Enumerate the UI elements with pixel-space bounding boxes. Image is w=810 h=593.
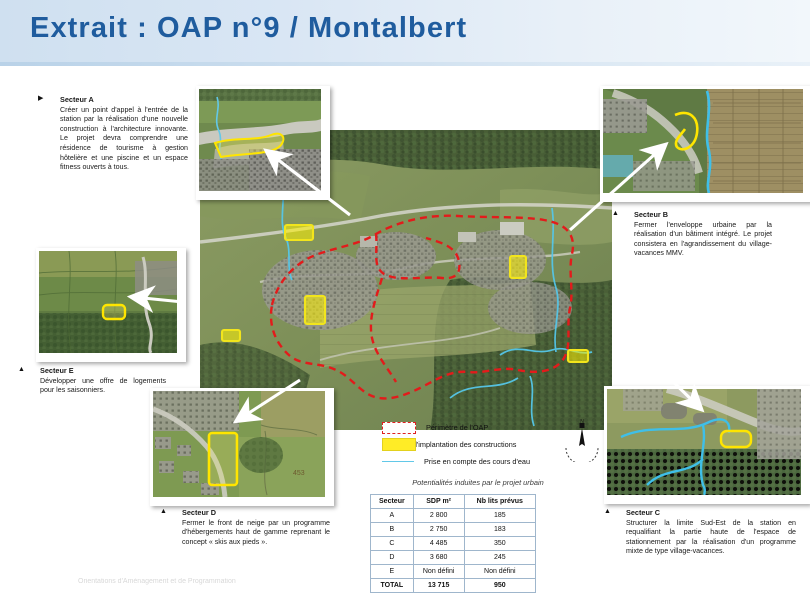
- map-sector-b: [510, 256, 526, 278]
- table-row: B 2 750 183: [371, 523, 536, 537]
- footer-caption: Orientations d'Aménagement et de Program…: [78, 578, 478, 589]
- bullet-marker-icon: ▲: [604, 508, 612, 516]
- page-header: Extrait : OAP n°9 / Montalbert: [0, 0, 810, 63]
- cell-lits: 245: [464, 551, 535, 565]
- inset-photo-secteur-a[interactable]: [196, 86, 330, 200]
- secteur-e-text: Développer une offre de logements pour l…: [40, 377, 166, 396]
- map-legend: Périmètre de l'OAP Secteurs d'implantati…: [382, 420, 572, 471]
- water-swatch-icon: [382, 461, 414, 462]
- inset-photo-secteur-e[interactable]: [36, 248, 186, 362]
- cell-lits: 183: [464, 523, 535, 537]
- legend-item-cours-eau: Prise en compte des cours d'eau: [382, 454, 572, 469]
- secteur-c-text: Structurer la limite Sud-Est de la stati…: [626, 519, 796, 557]
- th-sdp: SDP m²: [413, 495, 464, 509]
- secteur-d-title: Secteur D: [182, 508, 330, 518]
- legend-label-cours-eau: Prise en compte des cours d'eau: [424, 457, 530, 466]
- inset-photo-secteur-d[interactable]: 453: [150, 388, 334, 506]
- table-caption: Potentialités induites par le projet urb…: [378, 478, 578, 487]
- cell-sdp: 2 750: [413, 523, 464, 537]
- table-header-row: Secteur SDP m² Nb lits prévus: [371, 495, 536, 509]
- bullet-marker-icon: ▲: [18, 366, 26, 374]
- cell-lits: Non défini: [464, 565, 535, 579]
- table-row: D 3 680 245: [371, 551, 536, 565]
- secteur-c-block: ▲ Secteur C Structurer la limite Sud-Est…: [604, 508, 796, 557]
- table-row: A 2 800 185: [371, 509, 536, 523]
- secteur-d-text: Fermer le front de neige par un programm…: [182, 519, 330, 548]
- bullet-marker-icon: ▲: [160, 508, 168, 516]
- secteur-c-title: Secteur C: [626, 508, 796, 518]
- compass-north-label: N: [580, 419, 584, 425]
- th-lits: Nb lits prévus: [464, 495, 535, 509]
- sector-swatch-icon: [382, 438, 416, 451]
- legend-item-perimetre: Périmètre de l'OAP: [382, 420, 572, 435]
- map-sector-c: [568, 350, 588, 362]
- legend-label-perimetre: Périmètre de l'OAP: [426, 423, 488, 432]
- th-secteur: Secteur: [371, 495, 414, 509]
- cell-secteur: E: [371, 565, 414, 579]
- secteur-b-block: ▲ Secteur B Fermer l'enveloppe urbaine p…: [612, 210, 772, 259]
- secteur-e-block: ▲ Secteur E Développer une offre de loge…: [18, 366, 166, 396]
- legend-item-secteurs: Secteurs d'implantation des construction…: [382, 437, 572, 452]
- map-sector-d: [305, 296, 325, 324]
- secteur-e-title: Secteur E: [40, 366, 166, 376]
- cell-secteur: D: [371, 551, 414, 565]
- parcel-label: 453: [293, 470, 305, 477]
- table-row: C 4 485 350: [371, 537, 536, 551]
- secteur-b-title: Secteur B: [634, 210, 772, 220]
- cell-sdp: 3 680: [413, 551, 464, 565]
- secteur-a-block: ▶ Secteur A Créer un point d'appel à l'e…: [38, 95, 188, 173]
- cell-secteur: A: [371, 509, 414, 523]
- secteur-a-text: Créer un point d'appel à l'entrée de la …: [60, 106, 188, 173]
- cell-secteur: B: [371, 523, 414, 537]
- secteur-b-text: Fermer l'enveloppe urbaine par la réalis…: [634, 221, 772, 259]
- inset-photo-secteur-b[interactable]: [600, 86, 810, 202]
- cell-lits: 350: [464, 537, 535, 551]
- map-sector-e: [222, 330, 240, 341]
- cell-secteur: C: [371, 537, 414, 551]
- cell-sdp: 2 800: [413, 509, 464, 523]
- page-title: Extrait : OAP n°9 / Montalbert: [30, 12, 467, 45]
- secteur-d-block: ▲ Secteur D Fermer le front de neige par…: [160, 508, 330, 547]
- table-row: E Non défini Non défini: [371, 565, 536, 579]
- map-sector-a: [285, 225, 313, 240]
- cell-sdp: Non défini: [413, 565, 464, 579]
- bullet-marker-icon: ▶: [38, 95, 46, 103]
- cell-lits: 185: [464, 509, 535, 523]
- perimeter-swatch-icon: [382, 422, 416, 434]
- bullet-marker-icon: ▲: [612, 210, 620, 218]
- north-arrow-icon: N: [560, 418, 604, 462]
- inset-photo-secteur-c[interactable]: [604, 386, 810, 504]
- cell-sdp: 4 485: [413, 537, 464, 551]
- secteur-a-title: Secteur A: [60, 95, 188, 105]
